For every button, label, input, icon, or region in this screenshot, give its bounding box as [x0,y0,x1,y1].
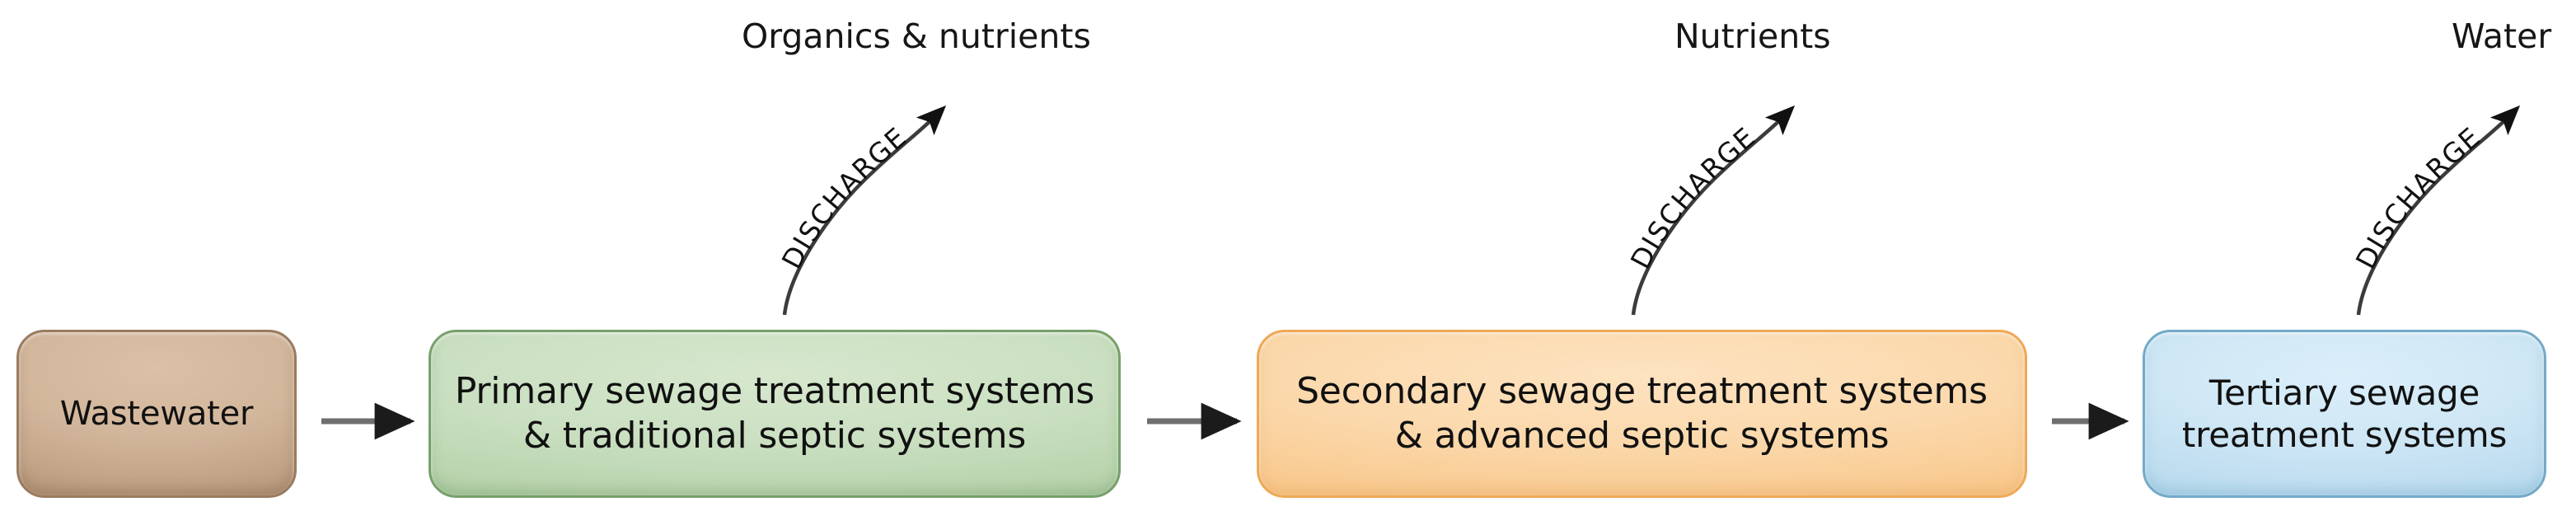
output-label-nutrients: Nutrients [1674,16,1831,56]
node-wastewater-label: Wastewater [19,394,294,434]
node-tertiary-treatment-label: Tertiary sewage treatment systems [2145,372,2544,456]
node-primary-treatment[interactable]: Primary sewage treatment systems & tradi… [429,330,1121,498]
node-tertiary-treatment[interactable]: Tertiary sewage treatment systems [2143,330,2546,498]
node-wastewater[interactable]: Wastewater [16,330,297,498]
diagram-canvas: Wastewater Primary sewage treatment syst… [0,0,2576,516]
discharge-arrow-secondary-label: DISCHARGE [1624,120,1762,274]
output-label-organics-nutrients: Organics & nutrients [742,16,1091,56]
node-secondary-treatment-label: Secondary sewage treatment systems & adv… [1259,369,2025,457]
discharge-arrow-secondary: DISCHARGE [1624,115,1785,315]
discharge-arrow-primary: DISCHARGE [775,115,936,315]
output-label-water: Water [2452,16,2551,56]
discharge-arrow-tertiary-label: DISCHARGE [2349,120,2487,274]
discharge-arrow-primary-label: DISCHARGE [775,120,913,274]
node-secondary-treatment[interactable]: Secondary sewage treatment systems & adv… [1257,330,2027,498]
node-primary-treatment-label: Primary sewage treatment systems & tradi… [431,369,1118,457]
discharge-arrow-tertiary: DISCHARGE [2349,115,2510,315]
